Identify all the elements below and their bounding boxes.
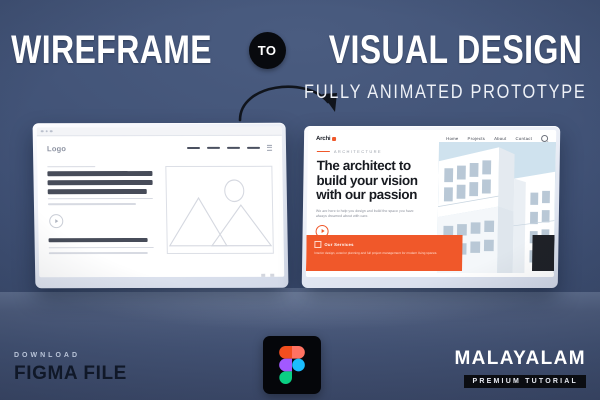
wireframe-head-line-2 (48, 180, 153, 185)
download-title: FIGMA FILE (14, 363, 127, 385)
hero-headline: The architect to build your vision with … (316, 159, 430, 202)
visual-design-monitor: Archi Home Projects About Contact (303, 126, 559, 288)
eyebrow-rule (317, 151, 330, 152)
mountain-image-placeholder (165, 166, 274, 254)
site-nav: Home Projects About Contact (446, 135, 548, 142)
wireframe-monitor: Logo (34, 123, 287, 288)
nav-item-home[interactable]: Home (446, 136, 458, 141)
to-badge: TO (249, 32, 286, 69)
wireframe-pager[interactable] (261, 274, 274, 277)
wireframe-foot-line-2 (49, 252, 148, 254)
wireframe-head-line-1 (47, 171, 152, 176)
headline-row: WIREFRAME TO VISUAL DESIGN (0, 24, 600, 76)
wireframe-nav-item-4[interactable] (247, 147, 260, 149)
title-wireframe: WIREFRAME (12, 30, 213, 70)
download-kicker: DOWNLOAD (14, 352, 127, 359)
wireframe-nav-item-3[interactable] (227, 147, 240, 149)
poster-canvas: WIREFRAME TO VISUAL DESIGN FULLY ANIMATE… (0, 0, 600, 400)
site-logo[interactable]: Archi (316, 136, 336, 142)
logo-mark-icon (332, 137, 336, 141)
nav-item-about[interactable]: About (494, 136, 507, 141)
wireframe-nav-item-1[interactable] (187, 147, 200, 149)
hero-eyebrow: ARCHITECTURE (317, 149, 431, 154)
hero-headline-line-3: with our passion (316, 188, 430, 202)
title-visual-design: VISUAL DESIGN (328, 30, 582, 70)
wireframe-nav-item-2[interactable] (207, 147, 220, 149)
wireframe-screen-frame: Logo (33, 123, 289, 288)
subtitle-text: FULLY ANIMATED PROTOTYPE (303, 82, 586, 104)
brand-tag: PREMIUM TUTORIAL (464, 375, 586, 388)
visual-screen: Archi Home Projects About Contact (306, 130, 556, 277)
wireframe-image-column (165, 166, 274, 258)
wireframe-foot-line-1 (49, 247, 154, 249)
wireframe-columns (47, 166, 274, 258)
services-card-side (532, 235, 555, 271)
services-card-title: Our Services (324, 242, 354, 247)
visual-screen-frame: Archi Home Projects About Contact (302, 126, 561, 288)
play-icon[interactable] (49, 214, 63, 228)
services-card-text: Interior design, exterior planning and f… (314, 251, 454, 255)
wireframe-nav (187, 145, 272, 151)
page-prev[interactable] (261, 274, 265, 277)
search-icon[interactable] (541, 135, 548, 142)
download-block: DOWNLOAD FIGMA FILE (14, 352, 127, 385)
wireframe-head-line-3 (48, 189, 147, 194)
hamburger-icon[interactable] (267, 145, 272, 151)
hero-section: ARCHITECTURE The architect to build your… (306, 142, 556, 273)
eyebrow-text: ARCHITECTURE (334, 149, 382, 154)
browser-dot-close (41, 130, 44, 133)
nav-item-projects[interactable]: Projects (468, 136, 486, 141)
wireframe-screen: Logo (37, 127, 285, 277)
figma-logo-icon (263, 336, 321, 394)
page-next[interactable] (270, 274, 274, 277)
hero-body-text: We are here to help you design and build… (316, 208, 421, 218)
browser-chrome (37, 127, 282, 136)
wireframe-body-line-2 (48, 203, 136, 205)
hero-headline-line-1: The architect to (317, 159, 431, 173)
wireframe-body: Logo (37, 136, 284, 277)
wireframe-kicker-line (47, 166, 95, 167)
wireframe-text-column (47, 166, 156, 258)
services-card[interactable]: Our Services Interior design, exterior p… (306, 235, 463, 271)
browser-dot-min (45, 130, 48, 133)
wireframe-body-line-1 (48, 198, 153, 200)
brand-name: MALAYALAM (454, 348, 586, 370)
hero-headline-line-2: build your vision (316, 174, 430, 188)
browser-dot-max (50, 130, 53, 133)
nav-item-contact[interactable]: Contact (516, 136, 533, 141)
services-card-header: Our Services (314, 241, 454, 248)
site-header: Archi Home Projects About Contact (308, 130, 556, 142)
brand-block: MALAYALAM PREMIUM TUTORIAL (454, 348, 586, 388)
site-logo-text: Archi (316, 136, 330, 142)
box-icon (314, 241, 321, 248)
subtitle-row: FULLY ANIMATED PROTOTYPE (0, 82, 600, 104)
wireframe-cta-bar[interactable] (49, 238, 148, 243)
